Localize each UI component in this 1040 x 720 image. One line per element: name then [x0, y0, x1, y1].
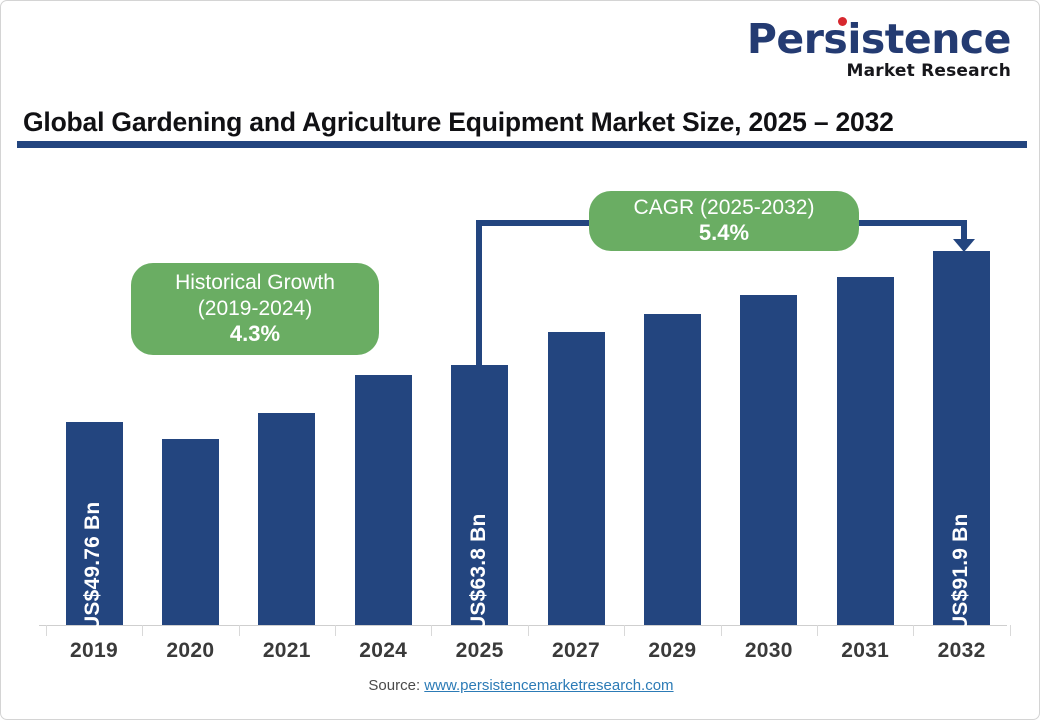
x-axis-tick [431, 625, 432, 636]
cagr-connector-right-arm [853, 220, 967, 226]
bar-value-label-2025: US$63.8 Bn [467, 513, 491, 631]
x-axis-tick [817, 625, 818, 636]
x-axis-label-2024: 2024 [335, 639, 431, 663]
cagr-arrow-icon [953, 239, 975, 252]
x-axis-tick [624, 625, 625, 636]
cagr-callout-line1: CAGR (2025-2032) [634, 195, 815, 221]
x-axis-label-2020: 2020 [142, 639, 238, 663]
bar-2027 [548, 332, 605, 625]
x-axis-tick [335, 625, 336, 636]
x-axis-label-2031: 2031 [817, 639, 913, 663]
x-axis-label-2019: 2019 [46, 639, 142, 663]
x-axis-label-2021: 2021 [239, 639, 335, 663]
source-note: Source: www.persistencemarketresearch.co… [1, 677, 1040, 694]
cagr-connector-left-arm [476, 220, 594, 226]
historical-growth-callout: Historical Growth (2019-2024) 4.3% [131, 263, 379, 355]
x-axis-label-2032: 2032 [913, 639, 1009, 663]
source-prefix: Source: [368, 677, 424, 694]
x-axis-label-2025: 2025 [431, 639, 527, 663]
x-axis-tick [46, 625, 47, 636]
historical-callout-line1: Historical Growth [175, 270, 335, 296]
bar-2021 [258, 413, 315, 625]
bar-2031 [837, 277, 894, 625]
bar-value-label-2032: US$91.9 Bn [949, 513, 973, 631]
x-axis-tick [1010, 625, 1011, 636]
bar-value-label-2019: US$49.76 Bn [81, 502, 105, 631]
cagr-callout: CAGR (2025-2032) 5.4% [589, 191, 859, 251]
bar-2024 [355, 375, 412, 625]
x-axis-label-2029: 2029 [624, 639, 720, 663]
x-axis-label-2030: 2030 [721, 639, 817, 663]
historical-callout-line2: (2019-2024) [198, 296, 312, 322]
x-axis-tick [142, 625, 143, 636]
x-axis-line [39, 625, 1007, 626]
historical-callout-value: 4.3% [230, 321, 280, 348]
bar-2029 [644, 314, 701, 625]
x-axis-tick [913, 625, 914, 636]
bar-chart: US$49.76 Bn2019202020212024US$63.8 Bn202… [1, 1, 1040, 720]
bar-2020 [162, 439, 219, 625]
cagr-callout-value: 5.4% [699, 220, 749, 247]
source-link[interactable]: www.persistencemarketresearch.com [424, 677, 673, 694]
chart-page: Persistence Market Research Global Garde… [0, 0, 1040, 720]
cagr-connector-left-stem [476, 220, 482, 378]
x-axis-tick [239, 625, 240, 636]
x-axis-label-2027: 2027 [528, 639, 624, 663]
bar-2030 [740, 295, 797, 625]
x-axis-tick [721, 625, 722, 636]
x-axis-tick [528, 625, 529, 636]
